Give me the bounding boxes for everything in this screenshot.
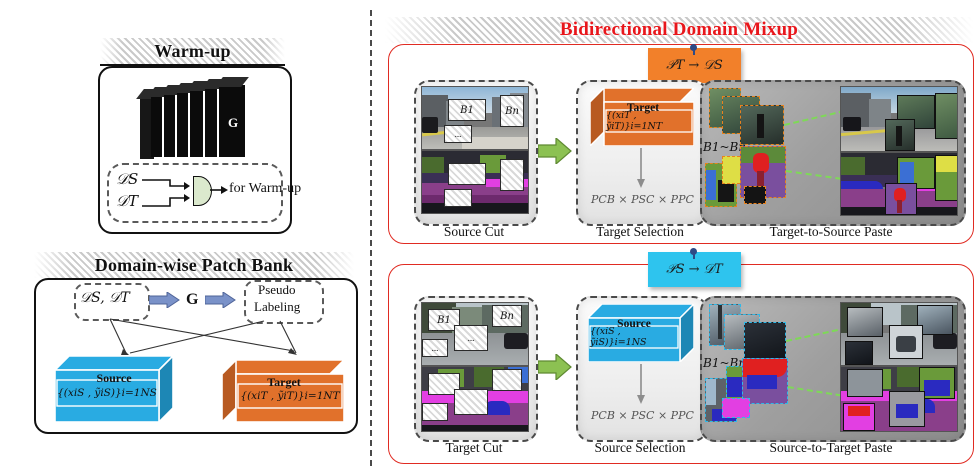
cut-patch-label: ... <box>455 129 462 139</box>
pasted-patch <box>744 322 786 362</box>
pseudo-labeling-line2: Labeling <box>254 299 300 315</box>
cut-patch <box>500 159 524 191</box>
patch-bank-title: Domain-wise Patch Bank <box>95 255 293 276</box>
arrow-source-cut-to-target-selection <box>538 138 572 164</box>
caption-source-cut: Source Cut <box>414 224 534 240</box>
source-selection-down-arrow <box>634 364 648 406</box>
target-selection-probability: PCB × PSC × PPC <box>591 193 694 206</box>
cut-patch <box>444 189 472 207</box>
cut-patch-label: B1 <box>460 105 474 116</box>
cut-patch <box>492 369 522 391</box>
pasted-region-label <box>885 183 917 215</box>
paste-result-label-row1 <box>840 152 958 216</box>
patch-bank-banner: Domain-wise Patch Bank <box>34 252 354 278</box>
caption-target-to-source-paste: Target-to-Source Paste <box>700 224 962 240</box>
target-cut-label-image <box>421 366 529 432</box>
caption-source-selection: Source Selection <box>576 440 704 456</box>
warmup-gate-output-label: for Warm-up <box>229 181 301 197</box>
target-selection-down-arrow <box>634 148 648 190</box>
pasted-region-label <box>889 391 925 427</box>
pasted-region <box>845 341 873 365</box>
cut-patch: Bn <box>492 305 522 327</box>
pasted-region-label <box>843 403 875 431</box>
target-selection-box: Target {(xiT , ỹiT)}i=1NT <box>590 88 694 146</box>
source-cut-rgb-image: B1 Bn ... <box>421 86 529 150</box>
note-source-to-target-text: 𝒫S → 𝒟T <box>666 262 722 277</box>
cut-patch-label: Bn <box>500 311 514 322</box>
pasted-patch-label <box>744 186 766 204</box>
caption-source-to-target-paste: Source-to-Target Paste <box>700 440 962 456</box>
source-box-notation: {(xiS , ỹiS)}i=1NS <box>57 387 157 399</box>
patch-bank-source-box: Source {(xiS , ỹiS)}i=1NS <box>55 356 173 422</box>
pasted-region <box>935 93 958 139</box>
source-selection-box-name: Source <box>588 318 680 330</box>
patch-bank-generator-label: G <box>186 291 198 309</box>
cut-patch <box>448 163 486 185</box>
note-source-to-target: 𝒫S → 𝒟T <box>648 252 741 287</box>
warmup-title: Warm-up <box>154 41 230 62</box>
target-box-name: Target <box>230 375 338 390</box>
cut-patch: ... <box>444 125 472 143</box>
patch-bank-inputs-label: 𝒟S, 𝒟T <box>80 290 130 306</box>
mixup-banner: Bidirectional Domain Mixup <box>385 17 973 43</box>
cut-patch: B1 <box>448 99 486 121</box>
pin-icon <box>690 44 697 51</box>
patch-bank-target-box: Target {(xiT , ỹiT)}i=1NT <box>222 360 344 422</box>
cut-patch-label: B1 <box>437 315 451 326</box>
source-selection-box: Source {(xiS , ỹiS)}i=1NS <box>588 304 694 362</box>
mixup-title: Bidirectional Domain Mixup <box>560 19 798 41</box>
target-cut-rgb-image: B1 Bn ... ... <box>421 302 529 366</box>
cut-patch-label: ... <box>432 343 439 353</box>
paste-result-label-row2 <box>840 366 958 432</box>
patch-bank-arrow-to-generator <box>149 292 181 308</box>
pasted-region-label <box>847 369 883 397</box>
warmup-banner: Warm-up <box>100 38 285 64</box>
paste-result-rgb-row1 <box>840 86 958 152</box>
source-selection-probability: PCB × PSC × PPC <box>591 409 694 422</box>
warmup-gate-input-source: 𝒟S <box>116 170 138 188</box>
paste-result-rgb-row2 <box>840 302 958 366</box>
pasted-region <box>889 325 923 359</box>
pasted-patch <box>740 105 784 145</box>
note-target-to-source-text: 𝒫T → 𝒟S <box>666 58 722 73</box>
cut-patch-label: Bn <box>505 106 519 117</box>
generator-label: G <box>228 115 238 131</box>
cut-patch: ... <box>422 339 448 357</box>
target-selection-box-name: Target <box>598 102 688 114</box>
caption-target-selection: Target Selection <box>576 224 704 240</box>
pin-icon <box>690 248 697 255</box>
panel-divider <box>370 10 372 466</box>
source-box-name: Source <box>55 371 173 386</box>
cut-patch: Bn <box>500 95 524 127</box>
pasted-region-label <box>935 155 958 201</box>
cut-patch-label: ... <box>468 333 475 343</box>
note-target-to-source: 𝒫T → 𝒟S <box>648 48 741 83</box>
pasted-region <box>847 307 883 337</box>
pasted-region <box>885 119 915 151</box>
pasted-patch-label <box>722 398 750 418</box>
patch-bank-arrow-to-pseudo <box>205 292 237 308</box>
pseudo-labeling-line1: Pseudo <box>258 282 296 298</box>
caption-target-cut: Target Cut <box>414 440 534 456</box>
cut-patch <box>454 389 488 415</box>
arrow-target-cut-to-source-selection <box>538 354 572 380</box>
cut-patch <box>422 403 448 421</box>
generator-network-icon: G <box>140 73 250 165</box>
warmup-gate-output-arrow <box>210 183 230 197</box>
source-cut-label-image <box>421 150 529 214</box>
warmup-gate-input-target: 𝒟T <box>116 192 138 210</box>
cut-patch: ... <box>454 325 488 351</box>
target-box-notation: {(xiT , ỹiT)}i=1NT <box>240 390 339 402</box>
